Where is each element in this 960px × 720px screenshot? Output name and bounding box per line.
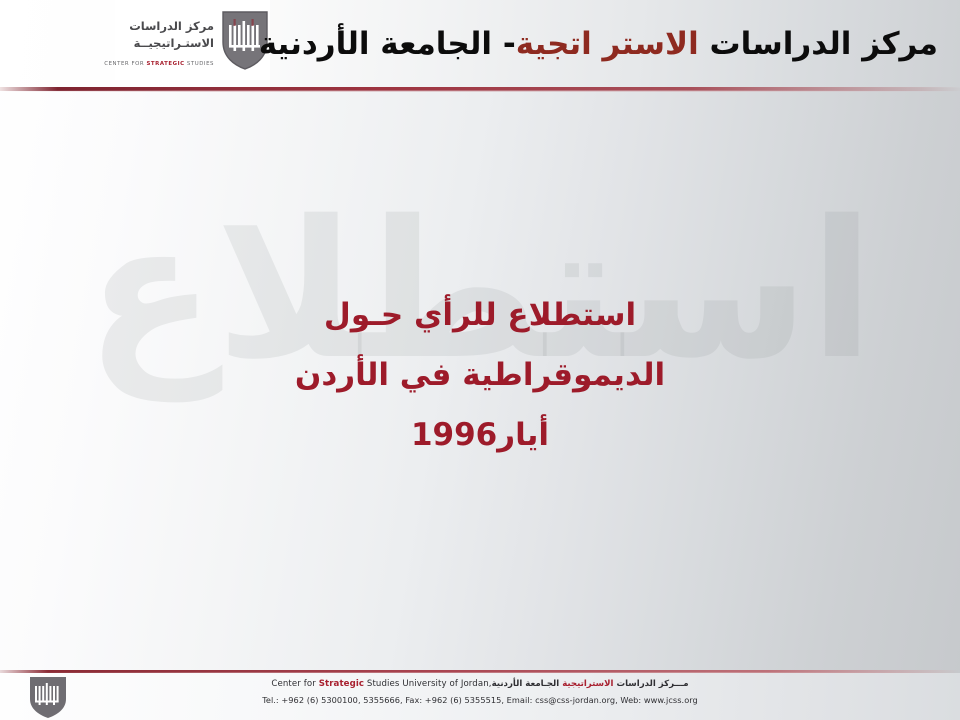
header-title: مركز الدراسات الاستر اتجية- الجامعة الأر… <box>259 26 938 62</box>
slide-title-line-2: الديموقراطية في الأردن <box>0 360 960 391</box>
slide-title-line-1: استطلاع للرأي حـول <box>0 300 960 331</box>
footer-ar-accent: الاستراتيجية <box>562 679 613 689</box>
logo-english-line: CENTER FOR STRATEGIC STUDIES <box>104 61 214 67</box>
logo-english-suffix: STUDIES <box>185 61 214 67</box>
slide-title-line-3: أيار1996 <box>0 420 960 451</box>
slide-canvas: مركز الدراسات الاستـراتيجيــة CENTER FOR… <box>0 0 960 720</box>
slide-header: مركز الدراسات الاستـراتيجيــة CENTER FOR… <box>0 0 960 88</box>
footer-en-suffix: Studies University of Jordan, <box>364 679 492 689</box>
header-title-accent: الاستر اتجية <box>516 26 699 62</box>
header-divider <box>0 87 960 91</box>
logo-arabic-line1: مركز الدراسات <box>129 19 214 33</box>
slide-title-block: استطلاع للرأي حـول الديموقراطية في الأرد… <box>0 300 960 451</box>
footer-ar-suffix: الجـامعة الأردنية <box>492 679 563 689</box>
footer-text-block: Center for Strategic Studies University … <box>0 679 960 705</box>
slide-footer: Center for Strategic Studies University … <box>0 673 960 720</box>
footer-org-line: Center for Strategic Studies University … <box>0 679 960 689</box>
header-title-part1: مركز الدراسات <box>699 26 938 62</box>
logo-english-prefix: CENTER FOR <box>104 61 146 67</box>
footer-en-prefix: Center for <box>271 679 318 689</box>
logo-english-accent: STRATEGIC <box>146 61 184 67</box>
logo-arabic-line2: الاستـراتيجيــة <box>134 36 214 50</box>
header-logo: مركز الدراسات الاستـراتيجيــة CENTER FOR… <box>115 0 270 80</box>
footer-contact-line: Tel.: +962 (6) 5300100, 5355666, Fax: +9… <box>0 695 960 705</box>
logo-wordmark: مركز الدراسات الاستـراتيجيــة CENTER FOR… <box>104 12 214 68</box>
footer-ar-group: مـــركز الدراسات الاستراتيجية الجـامعة ا… <box>492 679 689 689</box>
header-title-part2: - الجامعة الأردنية <box>259 26 516 62</box>
footer-ar-prefix: مـــركز الدراسات <box>613 679 688 689</box>
footer-en-accent: Strategic <box>319 679 364 689</box>
